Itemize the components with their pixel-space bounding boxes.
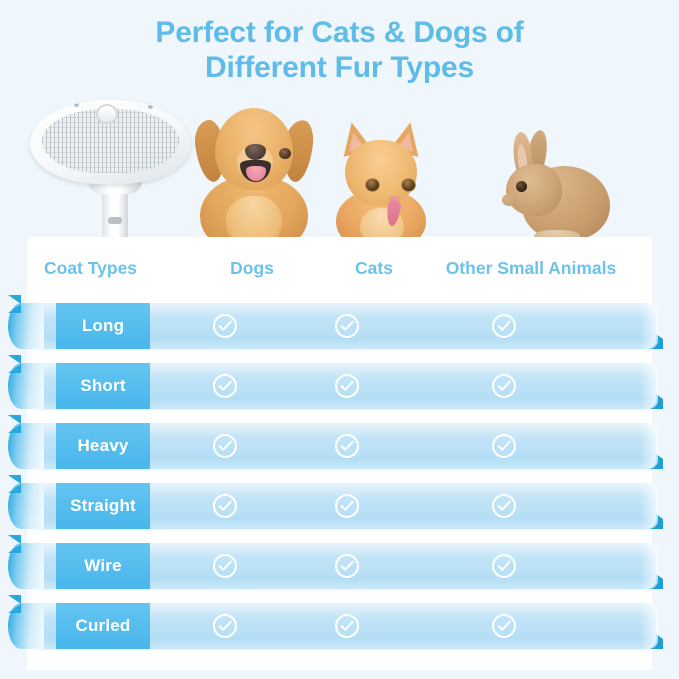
table-row: Curled [0, 595, 679, 655]
brush-screw [148, 104, 153, 109]
cell-cats [288, 363, 406, 409]
cell-cats [288, 603, 406, 649]
check-circle-icon [212, 313, 238, 339]
rabbit-nose [502, 194, 516, 206]
column-header-dogs: Dogs [193, 258, 311, 279]
coat-type-label: Straight [70, 496, 136, 516]
check-circle-icon [212, 493, 238, 519]
ribbon-end-highlight [640, 363, 658, 409]
cell-cats [288, 483, 406, 529]
coat-type-label: Long [82, 316, 124, 336]
golden-retriever-dog-image [196, 94, 312, 242]
photo-strip [0, 92, 679, 242]
cell-dogs [166, 303, 284, 349]
check-circle-icon [334, 493, 360, 519]
brush-screw [74, 102, 79, 107]
coat-type-chip: Heavy [56, 423, 150, 469]
cell-other-small-animals [398, 423, 610, 469]
check-circle-icon [212, 433, 238, 459]
ribbon-end-highlight [640, 603, 658, 649]
page-title: Perfect for Cats & Dogs of Different Fur… [0, 16, 679, 86]
ribbon-end-highlight [640, 483, 658, 529]
check-circle-icon [491, 373, 517, 399]
check-circle-icon [491, 553, 517, 579]
check-circle-icon [334, 313, 360, 339]
cell-dogs [166, 543, 284, 589]
cell-dogs [166, 483, 284, 529]
rabbit-head [506, 164, 562, 216]
cell-other-small-animals [398, 363, 610, 409]
ribbon-fold-triangle [8, 415, 21, 433]
column-header-other-small-animals: Other Small Animals [425, 258, 637, 279]
ribbon-fold-triangle [8, 355, 21, 373]
check-circle-icon [491, 433, 517, 459]
pet-grooming-brush-image [28, 96, 193, 246]
cell-cats [288, 303, 406, 349]
cell-dogs [166, 363, 284, 409]
coat-type-chip: Wire [56, 543, 150, 589]
coat-type-label: Short [80, 376, 125, 396]
ribbon-fold-triangle [8, 595, 21, 613]
rabbit-eye [516, 181, 527, 192]
cell-cats [288, 543, 406, 589]
check-circle-icon [334, 433, 360, 459]
cat-head [345, 140, 417, 206]
table-row: Wire [0, 535, 679, 595]
coat-type-chip: Straight [56, 483, 150, 529]
check-circle-icon [334, 553, 360, 579]
cell-dogs [166, 603, 284, 649]
tan-rabbit-image [500, 120, 614, 242]
check-circle-icon [212, 373, 238, 399]
check-circle-icon [212, 613, 238, 639]
cat-eye-left [365, 178, 380, 192]
ribbon-fold-triangle [8, 295, 21, 313]
table-header-row: Coat Types Dogs Cats Other Small Animals [27, 258, 652, 286]
dog-chest [226, 196, 282, 242]
table-body: Long Short Heavy Straight Wire Curled [0, 295, 679, 655]
check-circle-icon [491, 313, 517, 339]
check-circle-icon [334, 373, 360, 399]
table-row: Heavy [0, 415, 679, 475]
dog-eye-right [279, 148, 291, 159]
table-row: Straight [0, 475, 679, 535]
ribbon-end-highlight [640, 423, 658, 469]
coat-type-label: Heavy [77, 436, 128, 456]
page-title-line-2: Different Fur Types [0, 51, 679, 86]
column-header-cats: Cats [315, 258, 433, 279]
cell-other-small-animals [398, 603, 610, 649]
cell-other-small-animals [398, 543, 610, 589]
ribbon-fold-triangle [8, 535, 21, 553]
brush-head [30, 100, 191, 184]
ribbon-fold-triangle [8, 475, 21, 493]
coat-type-chip: Short [56, 363, 150, 409]
check-circle-icon [212, 553, 238, 579]
table-row: Long [0, 295, 679, 355]
ribbon-end-highlight [640, 543, 658, 589]
column-header-coat-types: Coat Types [44, 258, 137, 279]
cat-eye-right [401, 178, 416, 192]
coat-type-chip: Curled [56, 603, 150, 649]
ginger-kitten-cat-image [332, 120, 430, 242]
table-row: Short [0, 355, 679, 415]
check-circle-icon [334, 613, 360, 639]
coat-type-label: Wire [84, 556, 122, 576]
brush-button [108, 217, 122, 224]
brush-center-hole [96, 104, 118, 124]
cell-dogs [166, 423, 284, 469]
ribbon-end-highlight [640, 303, 658, 349]
check-circle-icon [491, 613, 517, 639]
page-title-line-1: Perfect for Cats & Dogs of [0, 16, 679, 51]
check-circle-icon [491, 493, 517, 519]
coat-type-label: Curled [75, 616, 130, 636]
cell-other-small-animals [398, 303, 610, 349]
cell-cats [288, 423, 406, 469]
coat-type-chip: Long [56, 303, 150, 349]
cell-other-small-animals [398, 483, 610, 529]
